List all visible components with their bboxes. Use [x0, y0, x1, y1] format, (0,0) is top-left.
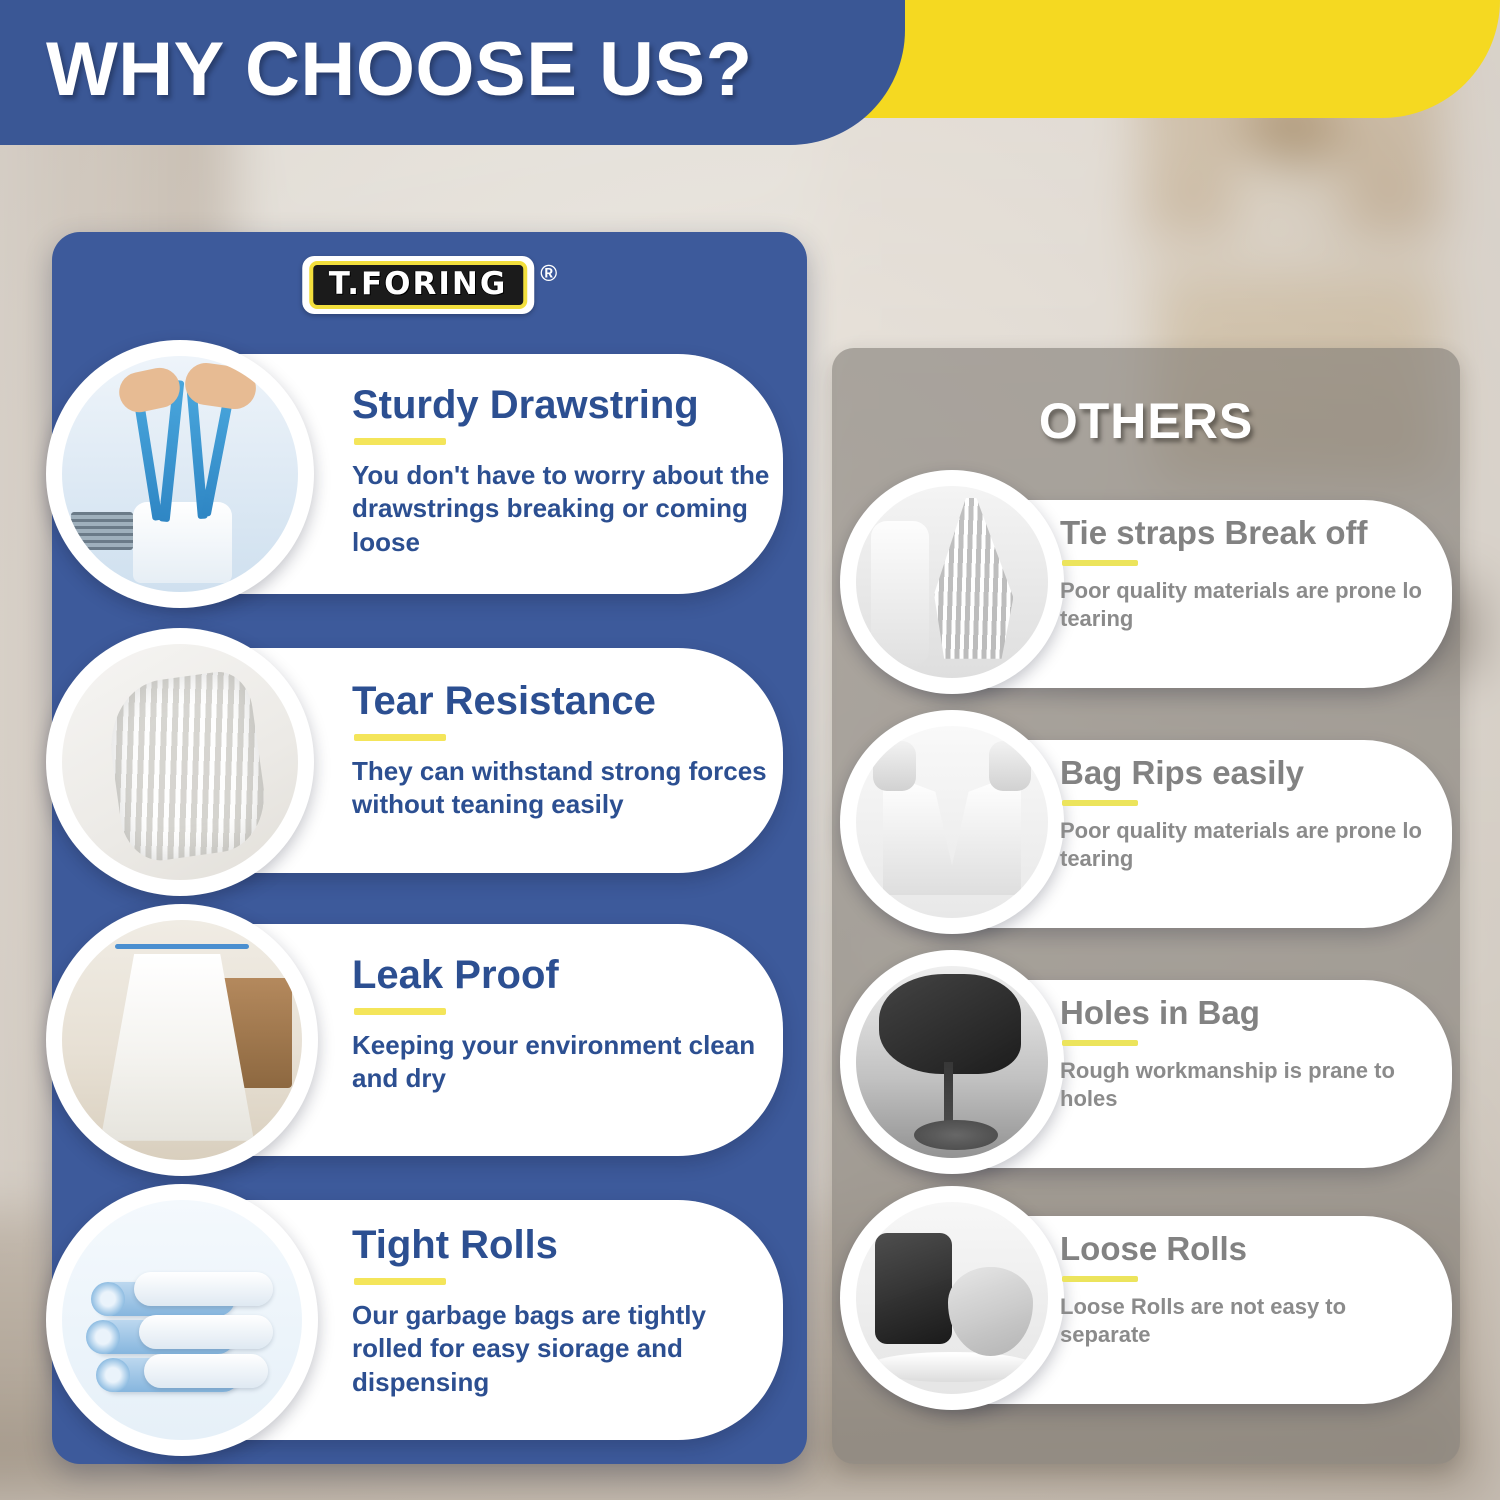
others-card-photo-4	[840, 1186, 1064, 1410]
card-description: Our garbage bags are tightly rolled for …	[352, 1299, 782, 1399]
logo-brand-text: T.FORING	[329, 269, 508, 300]
photo-image	[856, 966, 1048, 1158]
others-panel: OTHERS Tie straps Break off Poor quality…	[832, 348, 1460, 1464]
card-accent-rule	[354, 1278, 446, 1285]
card-description: Rough workmanship is prane to holes	[1060, 1057, 1432, 1113]
card-title: Tie straps Break off	[1060, 516, 1432, 551]
card-description: Keeping your environment clean and dry	[352, 1029, 772, 1096]
card-text-block: Leak Proof Keeping your environment clea…	[352, 954, 772, 1096]
others-card-photo-2	[840, 710, 1064, 934]
card-text-block: Sturdy Drawstring You don't have to worr…	[352, 384, 772, 559]
card-accent-rule	[354, 438, 446, 445]
black-bag-leaking-liquid-photo	[856, 966, 1048, 1158]
card-title: Leak Proof	[352, 954, 772, 996]
card-text-block: Holes in Bag Rough workmanship is prane …	[1060, 996, 1432, 1113]
page-title: WHY CHOOSE US?	[0, 26, 753, 113]
hands-stretching-blue-drawstrings-photo	[62, 356, 298, 592]
card-title: Sturdy Drawstring	[352, 384, 772, 426]
card-accent-rule	[1062, 800, 1138, 806]
photo-image	[62, 356, 298, 592]
card-accent-rule	[1062, 1040, 1138, 1046]
card-title: Tight Rolls	[352, 1224, 782, 1266]
card-text-block: Loose Rolls Loose Rolls are not easy to …	[1060, 1232, 1432, 1349]
card-title: Loose Rolls	[1060, 1232, 1432, 1267]
header: WHY CHOOSE US?	[0, 0, 1500, 170]
card-description: You don't have to worry about the drawst…	[352, 459, 772, 559]
logo-inner-plate: T.FORING	[309, 261, 528, 309]
others-card-photo-3	[840, 950, 1064, 1174]
card-description: Poor quality materials are prone lo tear…	[1060, 577, 1432, 633]
card-accent-rule	[354, 734, 446, 741]
card-text-block: Tight Rolls Our garbage bags are tightly…	[352, 1224, 782, 1399]
person-carrying-torn-tie-bag-photo	[856, 486, 1048, 678]
others-card-photo-1	[840, 470, 1064, 694]
stretched-clear-bag-film-photo	[62, 644, 298, 880]
photo-image	[856, 726, 1048, 918]
brand-logo: T.FORING ®	[302, 256, 558, 314]
card-text-block: Bag Rips easily Poor quality materials a…	[1060, 756, 1432, 873]
hands-ripping-bag-photo	[856, 726, 1048, 918]
ours-panel: T.FORING ® Sturdy Drawstring	[52, 232, 807, 1464]
card-accent-rule	[354, 1008, 446, 1015]
header-banner: WHY CHOOSE US?	[0, 0, 905, 145]
photo-image	[856, 1202, 1048, 1394]
photo-image	[62, 1200, 302, 1440]
others-panel-title: OTHERS	[832, 392, 1460, 450]
card-title: Bag Rips easily	[1060, 756, 1432, 791]
card-accent-rule	[1062, 1276, 1138, 1282]
photo-image	[856, 486, 1048, 678]
registered-trademark-icon: ®	[540, 260, 557, 287]
photo-image	[62, 644, 298, 880]
ours-card-photo-2	[46, 628, 314, 896]
card-text-block: Tear Resistance They can withstand stron…	[352, 680, 772, 822]
logo-badge: T.FORING	[302, 256, 535, 314]
card-description: Loose Rolls are not easy to separate	[1060, 1293, 1432, 1349]
card-title: Tear Resistance	[352, 680, 772, 722]
ours-card-photo-1	[46, 340, 314, 608]
card-accent-rule	[1062, 560, 1138, 566]
card-title: Holes in Bag	[1060, 996, 1432, 1031]
card-text-block: Tie straps Break off Poor quality materi…	[1060, 516, 1432, 633]
card-description: Poor quality materials are prone lo tear…	[1060, 817, 1432, 873]
ours-card-photo-4	[46, 1184, 318, 1456]
photo-image	[62, 920, 302, 1160]
ours-card-photo-3	[46, 904, 318, 1176]
white-bag-hanging-in-room-photo	[62, 920, 302, 1160]
stacked-blue-white-bag-rolls-photo	[62, 1200, 302, 1440]
loose-unrolled-bag-rolls-photo	[856, 1202, 1048, 1394]
card-description: They can withstand strong forces without…	[352, 755, 772, 822]
